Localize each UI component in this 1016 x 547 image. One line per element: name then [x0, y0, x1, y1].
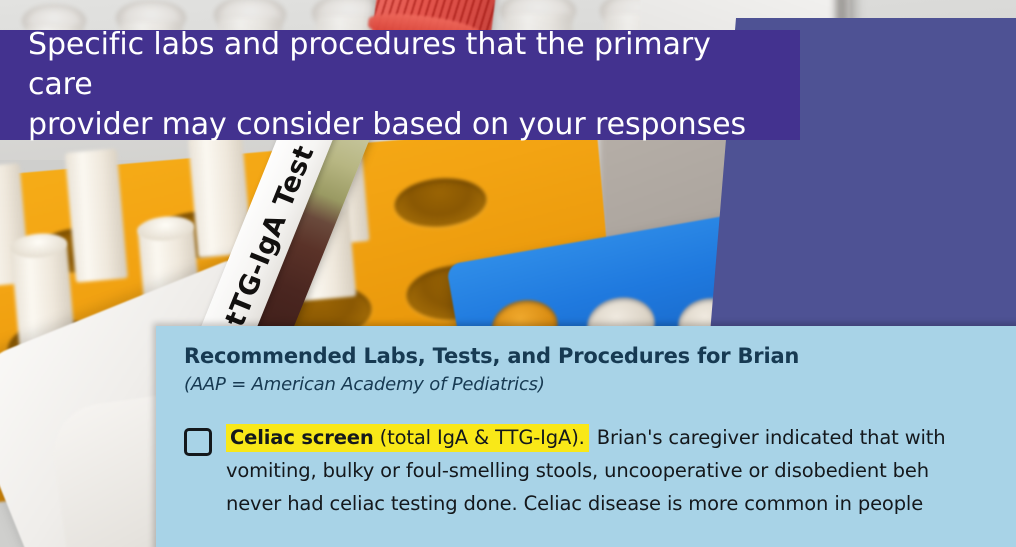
recommendation-name: Celiac screen — [230, 426, 374, 449]
slide-canvas: tTG-IgA Test Specific labs and procedure… — [0, 0, 1016, 547]
rack-vial — [65, 149, 128, 283]
slide-title: Specific labs and procedures that the pr… — [0, 25, 800, 145]
celiac-screen-checkbox[interactable] — [184, 428, 212, 456]
recommendation-line-2: vomiting, bulky or foul-smelling stools,… — [226, 459, 929, 482]
recommendation-item: Celiac screen (total IgA & TTG-IgA). Bri… — [184, 421, 1016, 520]
recommendation-line-3: never had celiac testing done. Celiac di… — [226, 492, 923, 515]
document-subheading: (AAP = American Academy of Pediatrics) — [184, 374, 1016, 395]
recommendation-line-1-rest: Brian's caregiver indicated that with — [589, 426, 946, 449]
recommendation-detail: (total IgA & TTG-IgA). — [374, 426, 585, 449]
recommendations-document: Recommended Labs, Tests, and Procedures … — [156, 326, 1016, 547]
slide-title-line-1: Specific labs and procedures that the pr… — [28, 27, 711, 102]
title-banner: Specific labs and procedures that the pr… — [0, 30, 800, 140]
recommendation-text: Celiac screen (total IgA & TTG-IgA). Bri… — [226, 421, 945, 520]
highlighted-recommendation: Celiac screen (total IgA & TTG-IgA). — [226, 424, 589, 452]
document-heading: Recommended Labs, Tests, and Procedures … — [184, 344, 1016, 368]
slide-title-line-2: provider may consider based on your resp… — [28, 107, 746, 142]
rack-hole — [393, 175, 489, 231]
